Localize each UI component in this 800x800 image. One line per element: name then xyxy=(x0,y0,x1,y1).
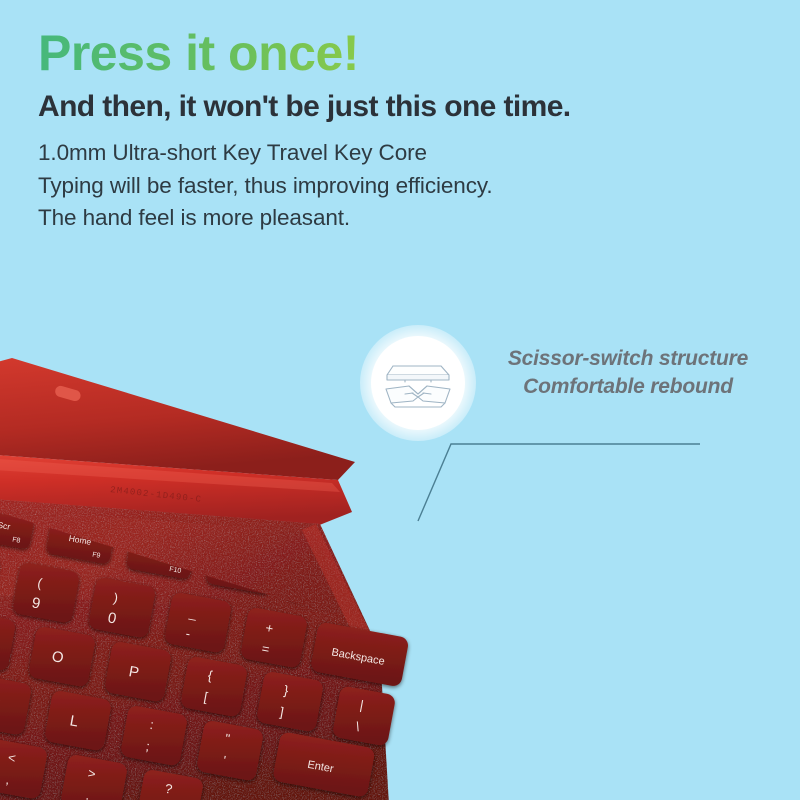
page-subheadline: And then, it won't be just this one time… xyxy=(38,90,778,123)
product-marketing-banner: 2M4002-1D490-C PrtScr F8 xyxy=(0,0,800,800)
callout-text: Scissor-switch structure Comfortable reb… xyxy=(478,345,778,402)
key: P xyxy=(104,641,172,703)
feature-line: 1.0mm Ultra-short Key Travel Key Core xyxy=(38,137,778,170)
key: ( 9 xyxy=(12,562,80,624)
key: { [ xyxy=(180,656,248,718)
key-label-bottom: F9 xyxy=(92,551,101,559)
key: ) 0 xyxy=(88,577,156,639)
key-label-bottom: Del xyxy=(414,604,428,615)
key: : ; xyxy=(120,705,188,767)
feature-line: Typing will be faster, thus improving ef… xyxy=(38,170,778,203)
feature-line: The hand feel is more pleasant. xyxy=(38,202,778,235)
key: Ins Del xyxy=(364,584,440,627)
scissor-switch-icon xyxy=(379,353,457,413)
marketing-copy: Press it once! And then, it won't be jus… xyxy=(38,26,778,235)
key-label-top: Ins xyxy=(379,598,391,609)
callout-line-2: Comfortable rebound xyxy=(478,373,778,401)
key: L xyxy=(44,690,112,752)
callout-badge[interactable] xyxy=(371,336,465,430)
page-headline: Press it once! xyxy=(38,26,778,80)
key: _ - xyxy=(164,592,232,654)
key: + = xyxy=(240,607,308,669)
feature-description: 1.0mm Ultra-short Key Travel Key Core Ty… xyxy=(38,137,778,235)
callout-line-1: Scissor-switch structure xyxy=(478,345,778,373)
key-label-bottom: F8 xyxy=(12,536,21,544)
key: | \ xyxy=(332,685,397,746)
key: } ] xyxy=(256,671,324,733)
key: " ' xyxy=(196,720,264,782)
key: O xyxy=(28,626,96,688)
